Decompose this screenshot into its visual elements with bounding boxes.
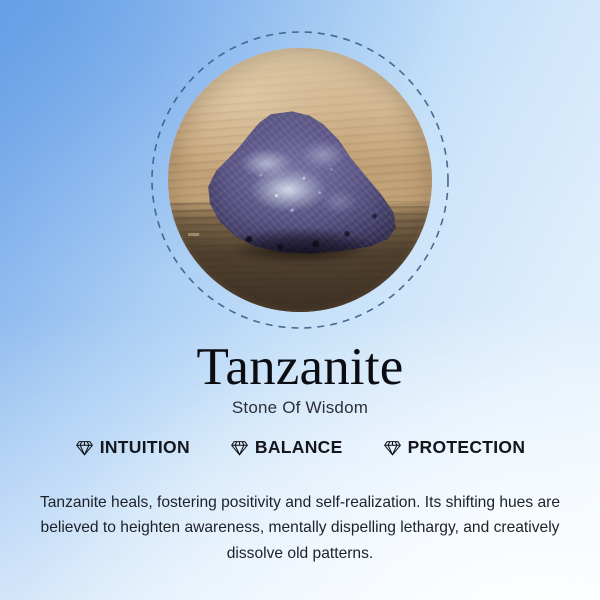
tanzanite-stone (202, 111, 397, 256)
stone-body (202, 111, 397, 256)
description-text: Tanzanite heals, fostering positivity an… (38, 490, 562, 566)
attribute-label: BALANCE (255, 437, 343, 458)
attribute-label: INTUITION (100, 437, 190, 458)
gemstone-info-card: Tanzanite Stone Of Wisdom INTUITION (0, 0, 600, 600)
stone-mineral-crust (202, 111, 397, 256)
page-title: Tanzanite (0, 340, 600, 395)
page-subtitle: Stone Of Wisdom (0, 398, 600, 418)
gem-icon (75, 438, 94, 457)
attribute-item: BALANCE (230, 437, 343, 458)
attribute-item: INTUITION (75, 437, 190, 458)
attribute-list: INTUITION BALANCE (0, 437, 600, 458)
gem-icon (230, 438, 249, 457)
gem-icon (383, 438, 402, 457)
attribute-item: PROTECTION (383, 437, 526, 458)
gemstone-photo-badge (150, 30, 450, 330)
attribute-label: PROTECTION (408, 437, 526, 458)
gemstone-photo (168, 48, 432, 312)
